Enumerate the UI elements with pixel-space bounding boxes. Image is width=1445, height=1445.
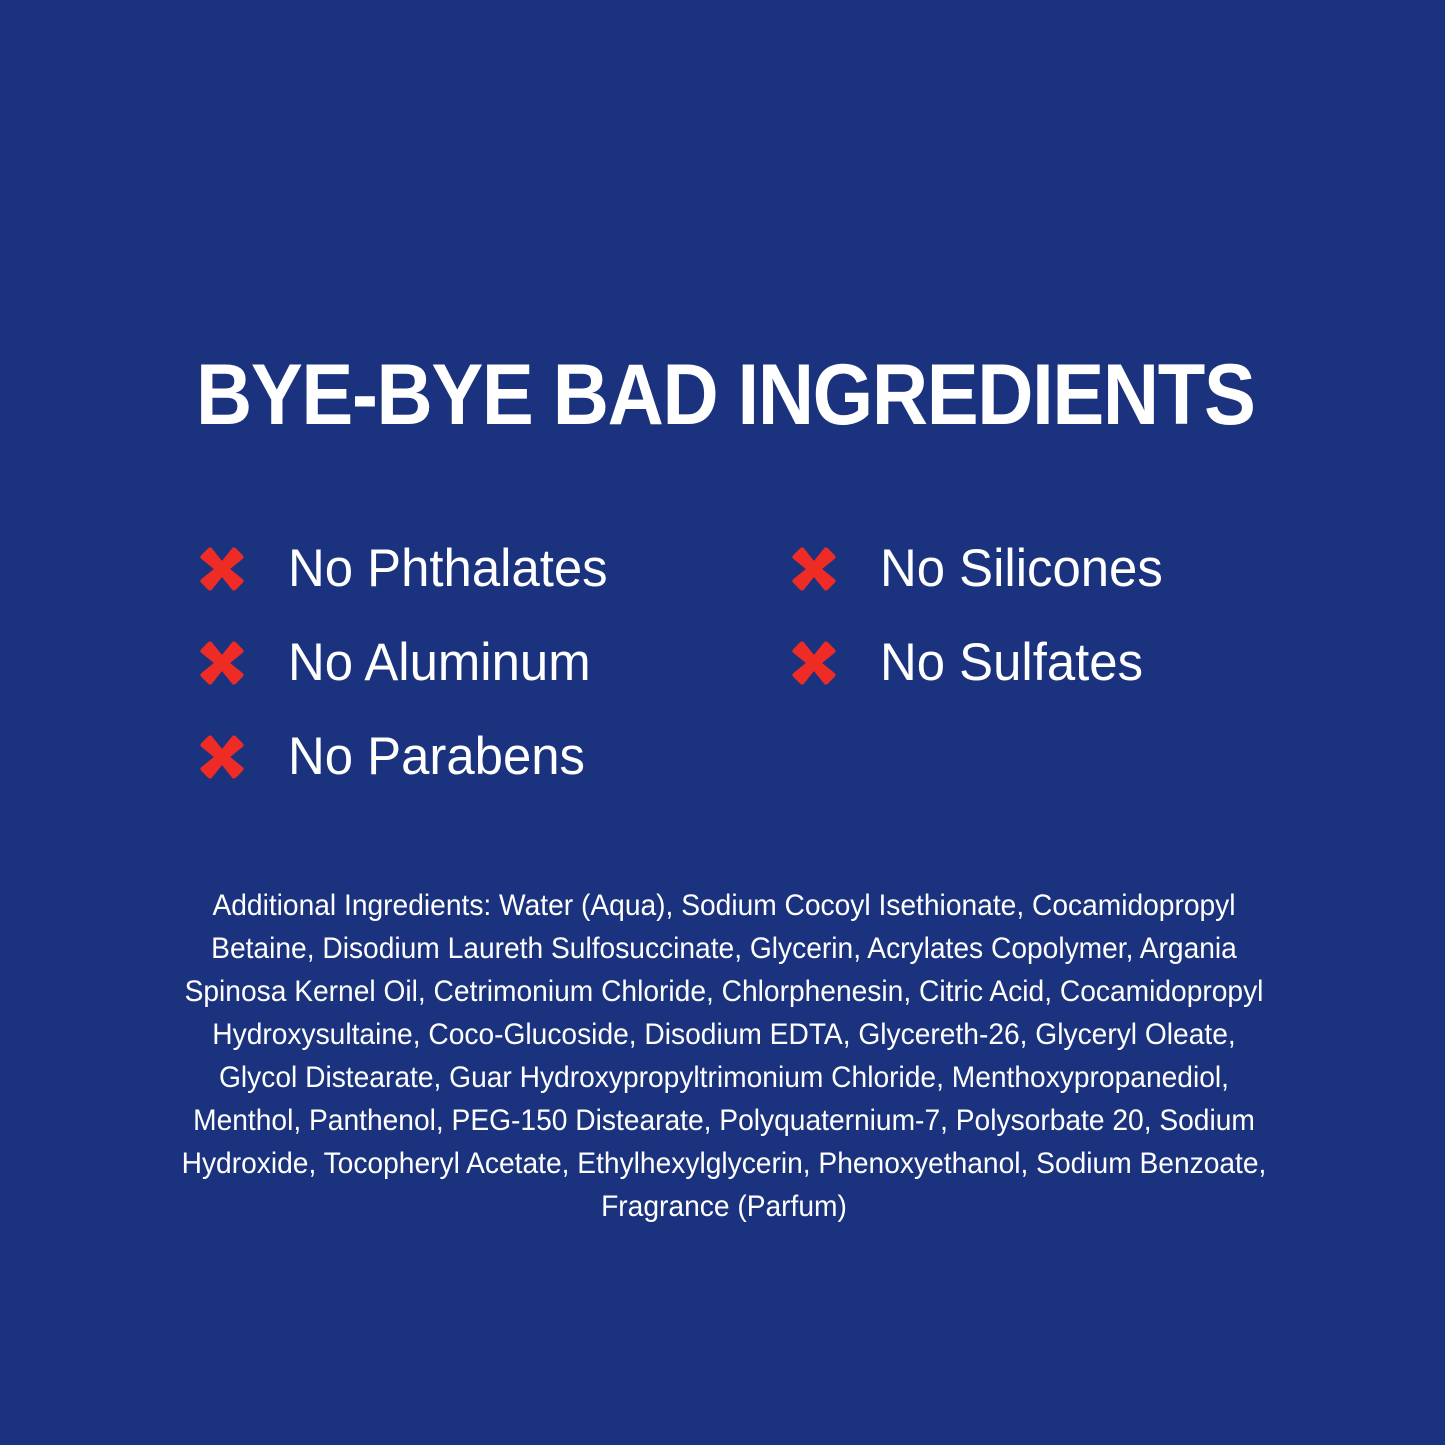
claim-label: No Parabens xyxy=(288,729,585,785)
ingredients-line: Hydroxide, Tocopheryl Acetate, Ethylhexy… xyxy=(166,1142,1281,1185)
claim-item: No Parabens xyxy=(198,710,621,804)
claim-label: No Phthalates xyxy=(288,541,608,597)
headline-text: BYE-BYE BAD INGREDIENTS xyxy=(196,352,1255,438)
ingredient-claims-poster: BYE-BYE BAD INGREDIENTS No Phthalates No… xyxy=(0,0,1445,1445)
red-x-icon xyxy=(198,639,246,687)
ingredients-line: Fragrance (Parfum) xyxy=(166,1185,1281,1228)
ingredients-line: Glycol Distearate, Guar Hydroxypropyltri… xyxy=(166,1056,1281,1099)
claim-item: No Phthalates xyxy=(198,522,621,616)
claims-column-right: No Silicones No Sulfates xyxy=(790,522,1175,710)
claim-item: No Aluminum xyxy=(198,616,621,710)
red-x-icon xyxy=(198,733,246,781)
claim-item: No Sulfates xyxy=(790,616,1175,710)
red-x-icon xyxy=(790,545,838,593)
red-x-icon xyxy=(198,545,246,593)
ingredients-line: Hydroxysultaine, Coco-Glucoside, Disodiu… xyxy=(166,1013,1281,1056)
ingredients-line: Additional Ingredients: Water (Aqua), So… xyxy=(166,884,1281,927)
claim-item: No Silicones xyxy=(790,522,1175,616)
claim-label: No Aluminum xyxy=(288,635,591,691)
red-x-icon xyxy=(790,639,838,687)
claim-label: No Silicones xyxy=(880,541,1163,597)
additional-ingredients-paragraph: Additional Ingredients: Water (Aqua), So… xyxy=(140,884,1308,1228)
ingredients-line: Menthol, Panthenol, PEG-150 Distearate, … xyxy=(166,1099,1281,1142)
claims-column-left: No Phthalates No Aluminum No Parabens xyxy=(198,522,621,804)
ingredients-line: Spinosa Kernel Oil, Cetrimonium Chloride… xyxy=(166,970,1281,1013)
headline: BYE-BYE BAD INGREDIENTS xyxy=(196,352,1296,444)
ingredients-line: Betaine, Disodium Laureth Sulfosuccinate… xyxy=(166,927,1281,970)
claim-label: No Sulfates xyxy=(880,635,1143,691)
